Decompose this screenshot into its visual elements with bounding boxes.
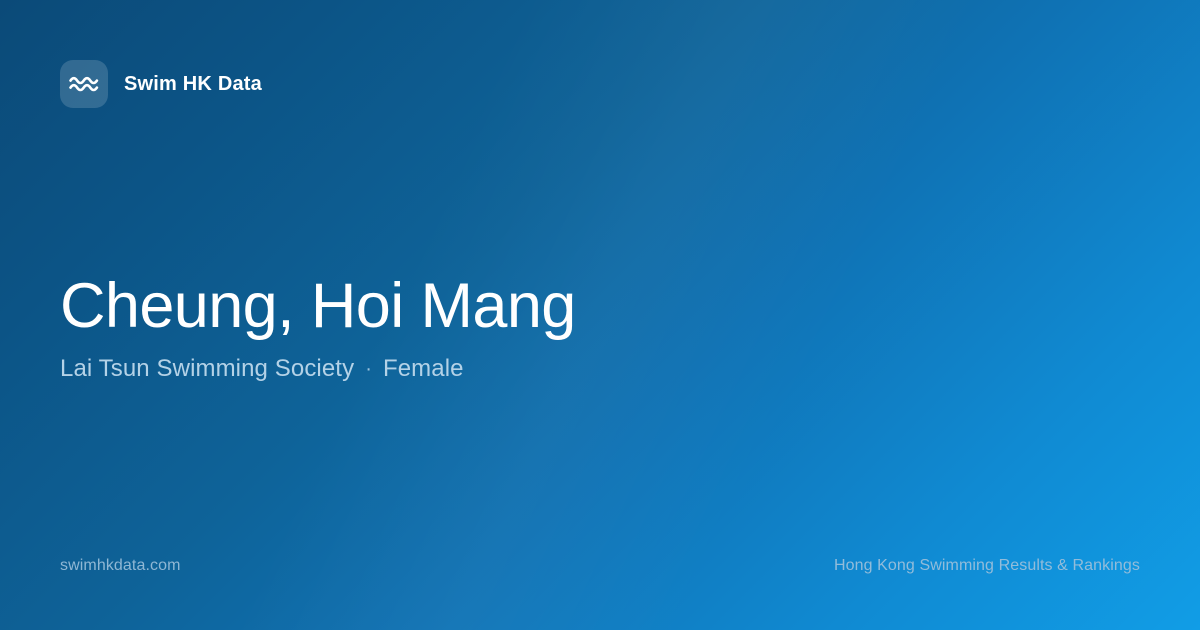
site-tagline: Hong Kong Swimming Results & Rankings [834, 557, 1140, 575]
card-footer: swimhkdata.com Hong Kong Swimming Result… [60, 557, 1140, 575]
meta-separator: · [365, 357, 372, 382]
waves-icon [60, 60, 108, 108]
athlete-header: Cheung, Hoi Mang Lai Tsun Swimming Socie… [60, 272, 576, 384]
athlete-gender: Female [383, 354, 464, 384]
brand-lockup[interactable]: Swim HK Data [60, 60, 262, 108]
athlete-meta: Lai Tsun Swimming Society · Female [60, 354, 576, 384]
social-share-card: Swim HK Data Cheung, Hoi Mang Lai Tsun S… [0, 0, 1200, 630]
athlete-name: Cheung, Hoi Mang [60, 272, 576, 340]
athlete-club: Lai Tsun Swimming Society [60, 354, 354, 384]
brand-name: Swim HK Data [124, 73, 262, 96]
site-url: swimhkdata.com [60, 557, 181, 575]
